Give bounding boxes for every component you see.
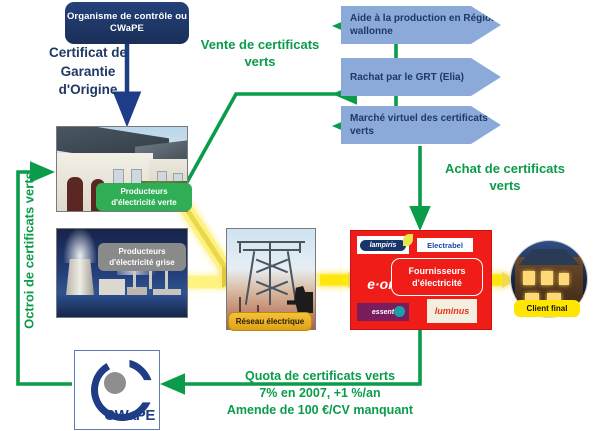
cwape-logo-box[interactable]: CWaPE [74,350,160,430]
leaf-icon [403,234,413,246]
outlet-marche-virtuel[interactable]: Marché virtuel des certificats verts [341,106,501,144]
quota-line-1: Quota de certificats verts [200,368,440,385]
cwape-logo-text: CWaPE [75,407,155,424]
logo-electrabel: Electrabel [417,238,473,252]
caption-text: Client final [527,304,568,313]
label-octroi-certificats: Octroi de certificats verts [22,166,37,336]
quota-line-3: Amende de 100 €/CV manquant [200,402,440,419]
control-body-label: Organisme de contrôle ou CWaPE [65,11,189,35]
suppliers-center-text: Fournisseurs d'électricité [392,265,482,289]
caption-client-final: Client final [514,300,580,317]
logo-text: essent [372,309,394,316]
caption-green-producer: Producteurs d'électricité verte [96,183,192,211]
caption-electric-grid: Réseau électrique [228,312,312,331]
logo-text: Electrabel [427,241,463,250]
outlet-rachat-grt[interactable]: Rachat par le GRT (Elia) [341,58,501,96]
suppliers-center-label: Fournisseurs d'électricité [391,258,483,296]
outlet-label: Rachat par le GRT (Elia) [350,71,464,84]
diagram-canvas: Organisme de contrôle ou CWaPE Certifica… [0,0,600,431]
quota-line-2: 7% en 2007, +1 %/an [200,385,440,402]
outlet-aide-production[interactable]: Aide à la production en Région wallonne [341,6,501,44]
logo-essent: essent [357,303,409,321]
pylon-icon [237,235,305,305]
logo-luminus: luminus [427,299,477,323]
photo-grey-producer [56,228,188,318]
logo-text: lampiris [370,242,397,249]
outlet-label: Marché virtuel des certificats verts [350,112,501,138]
label-achat-certificats: Achat de certificats verts [440,160,570,194]
caption-text: Producteurs d'électricité verte [111,187,177,207]
suppliers-box[interactable]: lampiris Electrabel e·on essent luminus … [350,230,492,330]
caption-grey-producer: Producteurs d'électricité grise [98,243,186,271]
control-body-box[interactable]: Organisme de contrôle ou CWaPE [65,2,189,44]
logo-lampiris: lampiris [357,236,409,254]
quota-block: Quota de certificats verts 7% en 2007, +… [200,368,440,419]
outlet-label: Aide à la production en Région wallonne [350,12,501,38]
logo-text: luminus [435,306,470,316]
certificate-origin-label: Certificat de Garantie d'Origine [36,44,140,100]
caption-text: Réseau électrique [236,317,304,326]
essent-dot-icon [394,306,405,317]
swirl-core-icon [104,372,126,394]
label-vente-certificats: Vente de certificats verts [200,36,320,70]
caption-text: Producteurs d'électricité grise [109,247,175,267]
